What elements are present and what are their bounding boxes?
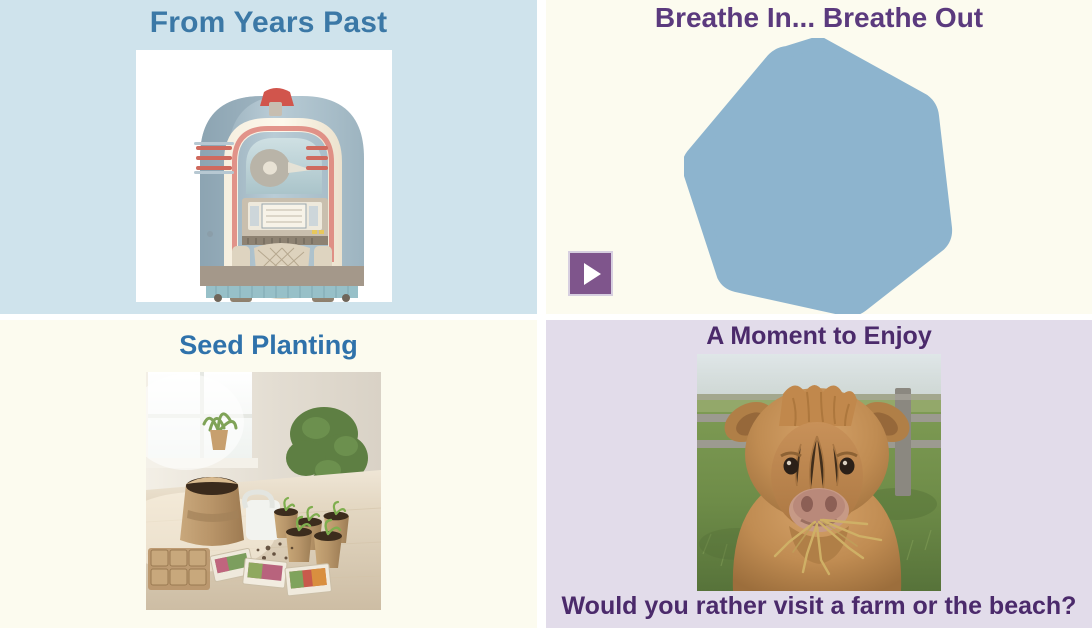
panel-title-seed: Seed Planting (0, 330, 537, 361)
panel-title-years-past: From Years Past (0, 6, 537, 40)
play-button[interactable] (568, 251, 613, 296)
panel-title-moment: A Moment to Enjoy (546, 322, 1092, 351)
panel-years-past[interactable]: From Years Past (0, 0, 537, 314)
panel-title-breathe: Breathe In... Breathe Out (546, 2, 1092, 34)
slide-grid: From Years Past (0, 0, 1092, 628)
moment-question-text: Would you rather visit a farm or the bea… (546, 592, 1092, 621)
seed-planting-photo (146, 372, 381, 610)
play-triangle-icon (584, 263, 601, 285)
highland-cow-calf-photo (697, 354, 941, 591)
vintage-jukebox-photo (136, 50, 392, 302)
breathing-heptagon (684, 38, 954, 314)
